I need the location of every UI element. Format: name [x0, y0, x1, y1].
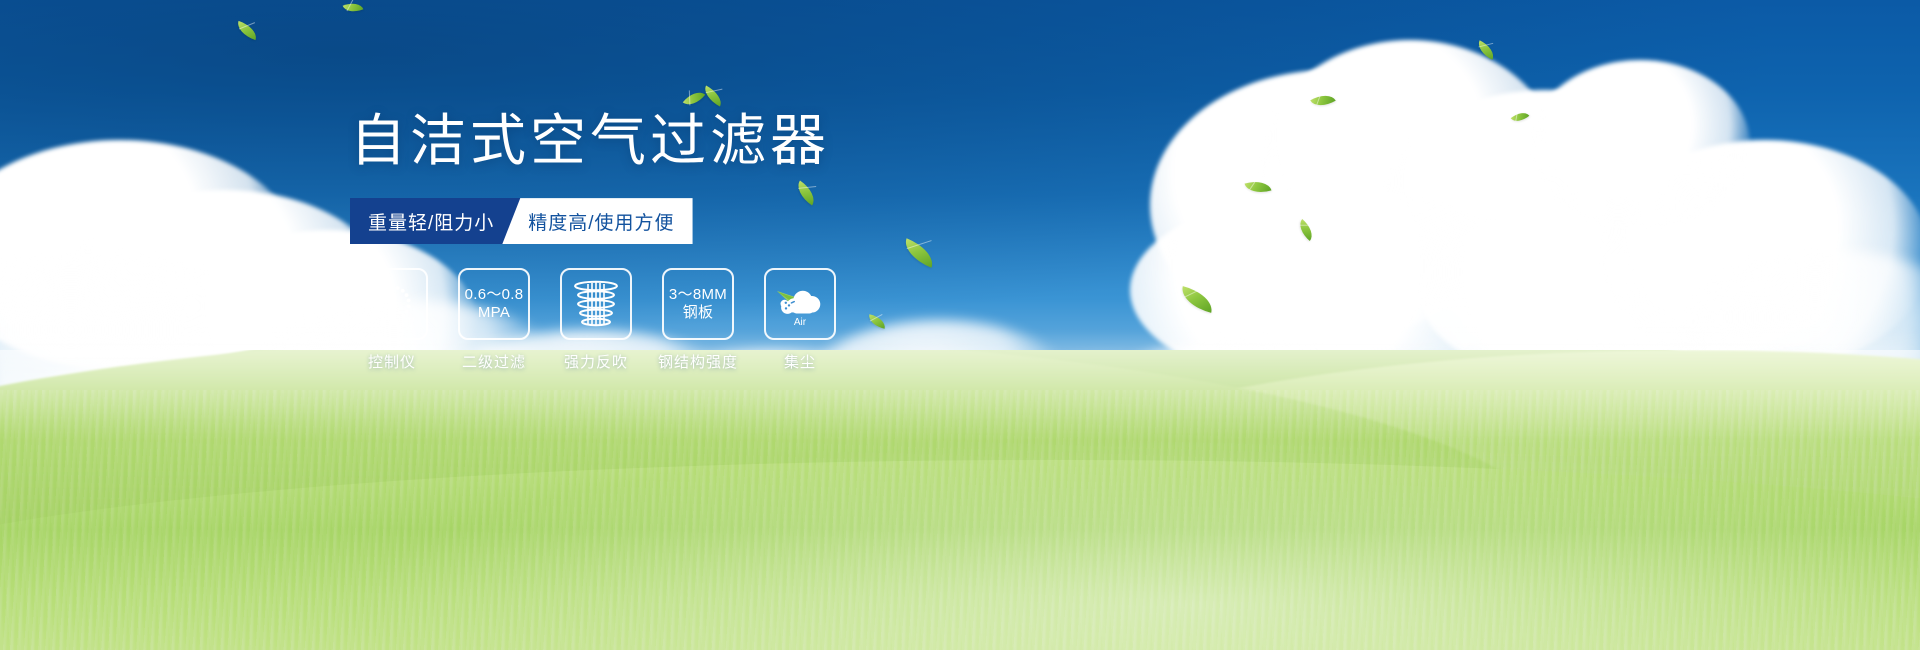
feature-item-controller: NO OFF 控制仪 [355, 268, 429, 372]
feature-item-dust-collection: Air 集尘 [763, 268, 837, 372]
tag-primary: 重量轻/阻力小 [350, 198, 520, 244]
cloud-shape [1530, 60, 1750, 230]
feature-icon-row: NO OFF 控制仪 0.6～0.8 MPA 二级过滤 [355, 268, 837, 372]
feature-box: 0.6～0.8 MPA [458, 268, 530, 340]
pressure-text-icon: 0.6～0.8 MPA [465, 286, 524, 323]
feature-tag-group: 重量轻/阻力小 精度高/使用方便 [350, 198, 670, 244]
feature-box: Air [764, 268, 836, 340]
grass-field [0, 350, 1920, 650]
banner-content: 自洁式空气过滤器 重量轻/阻力小 精度高/使用方便 [350, 108, 970, 244]
hero-banner: 自洁式空气过滤器 重量轻/阻力小 精度高/使用方便 [0, 0, 1920, 650]
feature-label: 控制仪 [368, 351, 416, 372]
feature-item-steel-strength: 3～8MM 钢板 钢结构强度 [661, 268, 735, 372]
tag-secondary-label: 精度高/使用方便 [528, 208, 674, 235]
feature-label: 二级过滤 [462, 351, 526, 372]
filter-stack-icon [570, 277, 622, 331]
air-cloud-label: Air [794, 317, 807, 328]
feature-box [560, 268, 632, 340]
svg-text:OFF: OFF [403, 317, 416, 324]
steel-plate-text-icon: 3～8MM 钢板 [669, 286, 727, 323]
svg-text:NO: NO [368, 299, 379, 306]
feature-box: NO OFF [356, 268, 428, 340]
feature-label: 钢结构强度 [658, 351, 738, 372]
air-cloud-icon: Air [771, 279, 829, 329]
feature-label: 强力反吹 [564, 351, 628, 372]
feature-box: 3～8MM 钢板 [662, 268, 734, 340]
page-title: 自洁式空气过滤器 [350, 108, 970, 174]
feature-item-backblow: 强力反吹 [559, 268, 633, 372]
feature-label: 集尘 [784, 351, 816, 372]
grass-horizon-blend [0, 350, 1920, 440]
gauge-dial-icon: NO OFF [363, 278, 421, 330]
tag-secondary: 精度高/使用方便 [502, 198, 692, 244]
feature-item-two-stage-filtration: 0.6～0.8 MPA 二级过滤 [457, 268, 531, 372]
tag-primary-label: 重量轻/阻力小 [368, 208, 494, 235]
